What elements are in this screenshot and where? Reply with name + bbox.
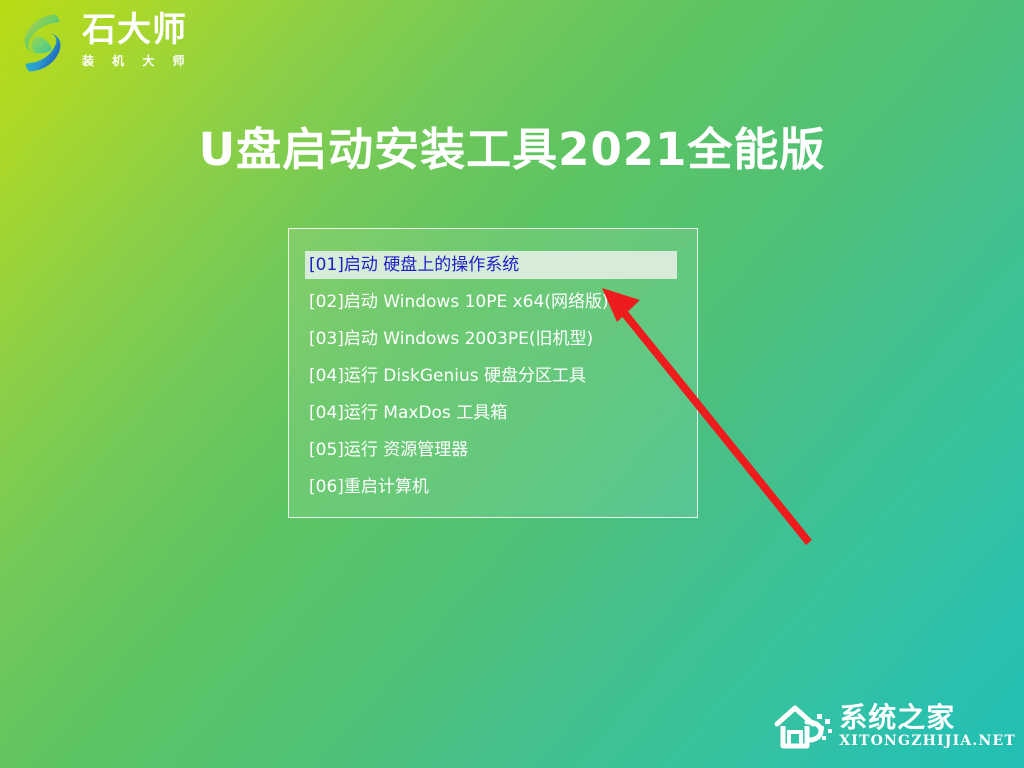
brand-name: 石大师 [82,10,212,50]
menu-item-04-diskgenius[interactable]: [04]运行 DiskGenius 硬盘分区工具 [305,362,677,390]
watermark-domain: XITONGZHIJIA.NET [839,733,1016,749]
menu-item-05[interactable]: [05]运行 资源管理器 [305,436,677,464]
boot-menu-box: [01]启动 硬盘上的操作系统 [02]启动 Windows 10PE x64(… [288,228,698,518]
brand-text-block: 石大师 装 机 大 师 [82,10,212,70]
brand-logo-block: 石大师 装 机 大 师 [14,8,214,80]
menu-item-04-maxdos[interactable]: [04]运行 MaxDos 工具箱 [305,399,677,427]
page-title: U盘启动安装工具2021全能版 [0,113,1024,178]
house-circuit-icon [773,700,837,752]
menu-item-03[interactable]: [03]启动 Windows 2003PE(旧机型) [305,325,677,353]
watermark: 系统之家 XITONGZHIJIA.NET [773,698,1016,754]
menu-item-06[interactable]: [06]重启计算机 [305,473,677,501]
watermark-name: 系统之家 [839,703,1016,733]
boot-menu-screen: 石大师 装 机 大 师 U盘启动安装工具2021全能版 [01]启动 硬盘上的操… [0,0,1024,768]
boot-menu-list[interactable]: [01]启动 硬盘上的操作系统 [02]启动 Windows 10PE x64(… [289,229,697,501]
stylized-s-logo-icon [14,12,74,74]
menu-item-01[interactable]: [01]启动 硬盘上的操作系统 [305,251,677,279]
brand-subtitle: 装 机 大 师 [82,52,212,70]
watermark-text-block: 系统之家 XITONGZHIJIA.NET [839,703,1016,749]
menu-item-02[interactable]: [02]启动 Windows 10PE x64(网络版) [305,288,677,316]
